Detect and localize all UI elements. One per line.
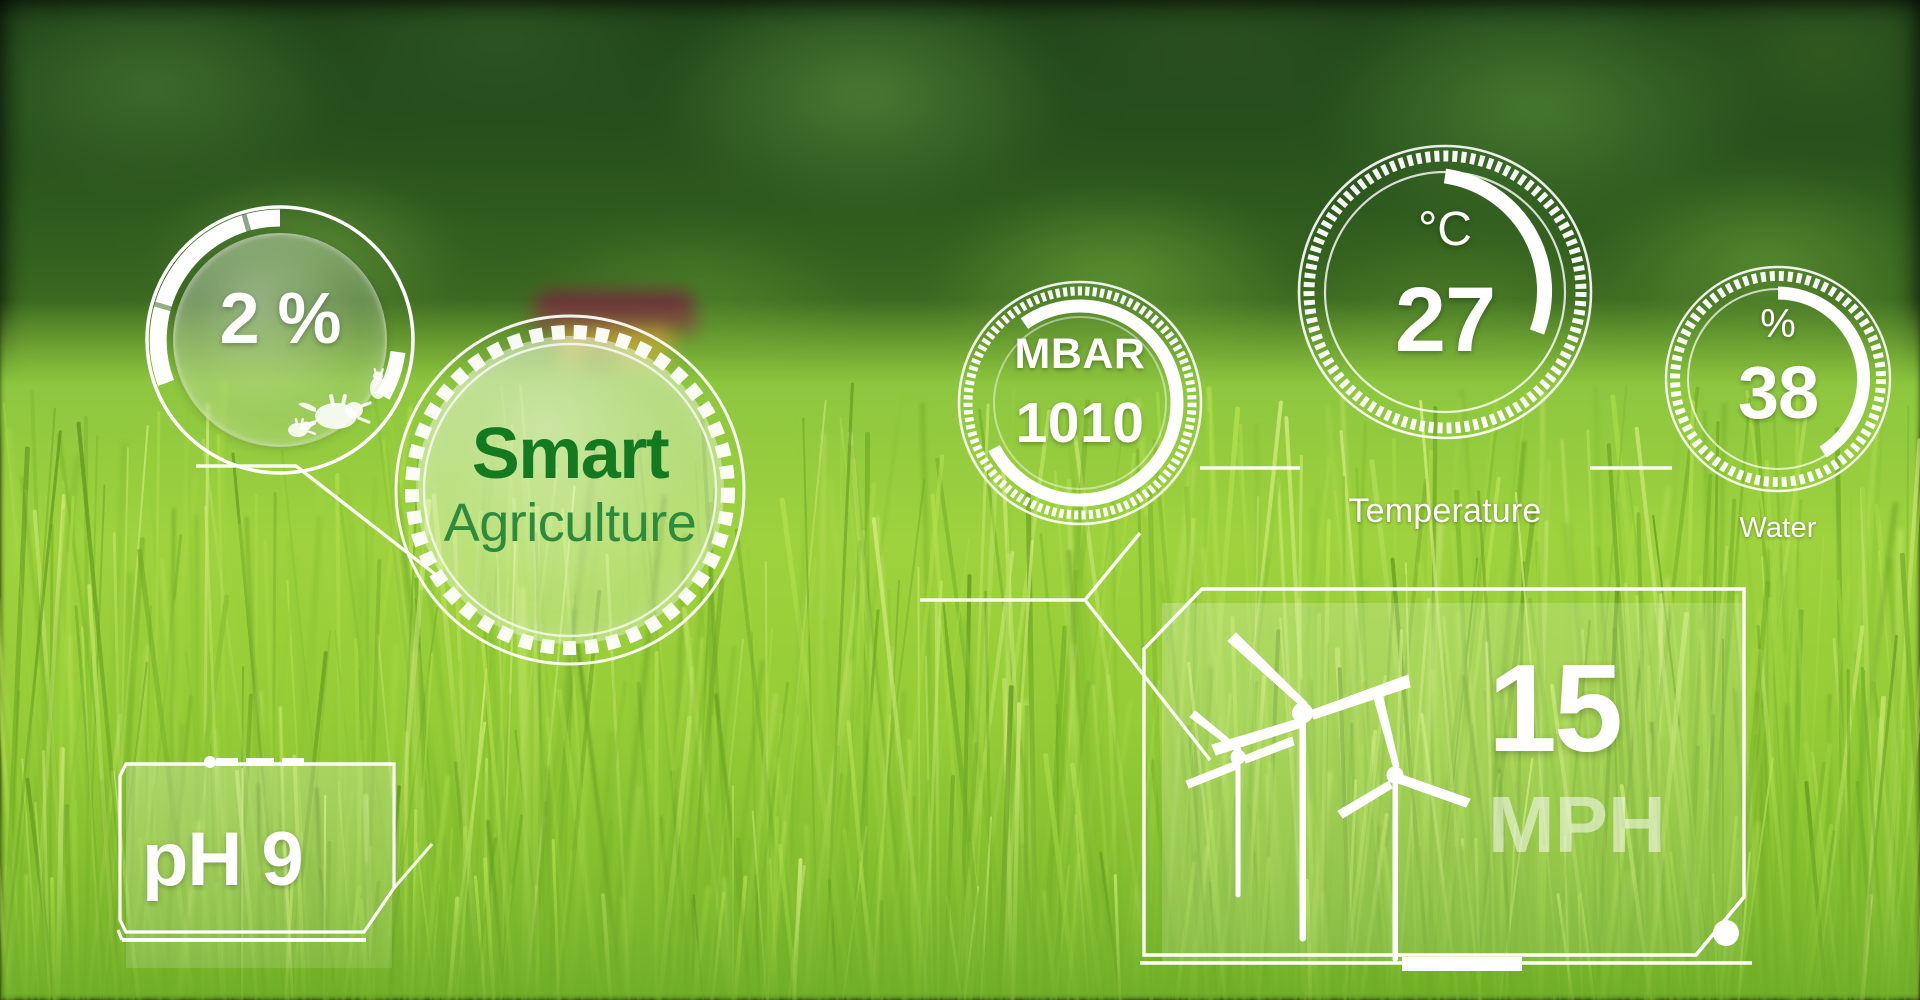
temperature-caption: Temperature xyxy=(1300,492,1590,531)
water-gauge-widget[interactable]: % 38 xyxy=(1663,264,1893,494)
smart-agriculture-hub[interactable]: Smart Agriculture xyxy=(390,310,750,670)
hub-title-secondary: Agriculture xyxy=(390,496,750,550)
pest-gauge-widget[interactable]: 2 % xyxy=(140,200,420,480)
water-unit: % xyxy=(1663,302,1893,347)
wind-panel-widget[interactable]: 15 MPH xyxy=(1140,585,1780,1000)
water-value: 38 xyxy=(1663,350,1893,435)
wind-unit: MPH xyxy=(1488,785,1768,865)
temperature-value: 27 xyxy=(1295,268,1595,373)
hub-title-primary: Smart xyxy=(390,418,750,490)
pressure-value: 1010 xyxy=(955,390,1205,456)
water-caption: Water xyxy=(1663,512,1893,545)
wind-value: 15 xyxy=(1488,647,1748,771)
pest-value: 2 % xyxy=(140,278,420,360)
ph-panel-widget[interactable]: pH 9 xyxy=(112,740,432,1000)
pressure-gauge-widget[interactable]: MBAR 1010 xyxy=(955,278,1205,528)
insect-icon xyxy=(278,368,398,448)
temperature-gauge-widget[interactable]: °C 27 xyxy=(1295,142,1595,442)
temperature-unit: °C xyxy=(1295,202,1595,257)
pressure-unit: MBAR xyxy=(955,330,1205,379)
smart-agriculture-hero: 2 % xyxy=(0,0,1920,1000)
ph-value: pH 9 xyxy=(142,816,422,903)
